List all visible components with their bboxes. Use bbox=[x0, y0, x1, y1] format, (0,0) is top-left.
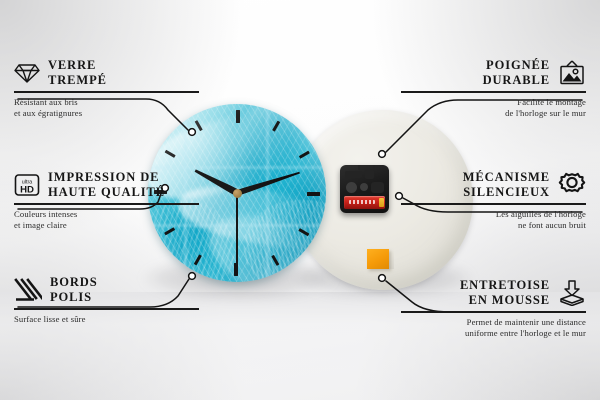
connector-dot-verre-trempe bbox=[189, 129, 196, 136]
feature-title: MÉCANISME SILENCIEUX bbox=[463, 170, 550, 199]
feature-divider bbox=[14, 91, 199, 93]
feature-header: ENTRETOISE EN MOUSSE bbox=[401, 278, 586, 307]
feature-mecanisme-silencieux[interactable]: MÉCANISME SILENCIEUX Les aiguilles de l'… bbox=[401, 170, 586, 231]
feature-bords-polis[interactable]: BORDS POLIS Surface lisse et sûre bbox=[14, 275, 199, 325]
feature-description: Résistant aux bris et aux égratignures bbox=[14, 97, 199, 119]
ultra-hd-icon: ultra HD bbox=[14, 173, 40, 197]
feature-divider bbox=[401, 203, 586, 205]
feature-description: Les aiguilles de l'horloge ne font aucun… bbox=[401, 209, 586, 231]
hanging-frame-icon bbox=[558, 60, 586, 86]
feature-header: POIGNÉE DURABLE bbox=[401, 58, 586, 87]
feature-impression-haute-qualite[interactable]: ultra HD IMPRESSION DE HAUTE QUALITÉ Cou… bbox=[14, 170, 199, 231]
feature-description: Facilite le montage de l'horloge sur le … bbox=[401, 97, 586, 119]
polished-edges-icon bbox=[14, 278, 42, 302]
svg-text:HD: HD bbox=[20, 184, 34, 195]
feature-title: ENTRETOISE EN MOUSSE bbox=[460, 278, 550, 307]
feature-divider bbox=[14, 203, 199, 205]
feature-description: Surface lisse et sûre bbox=[14, 314, 199, 325]
feature-header: ultra HD IMPRESSION DE HAUTE QUALITÉ bbox=[14, 170, 199, 199]
diamond-icon bbox=[14, 62, 40, 84]
infographic-canvas: VERRE TREMPÉ Résistant aux bris et aux é… bbox=[0, 0, 600, 400]
feature-description: Permet de maintenir une distance uniform… bbox=[401, 317, 586, 339]
feature-divider bbox=[401, 91, 586, 93]
feature-title: IMPRESSION DE HAUTE QUALITÉ bbox=[48, 170, 165, 199]
connector-dot-poignee-durable bbox=[379, 151, 386, 158]
feature-title: BORDS POLIS bbox=[50, 275, 98, 304]
feature-poignee-durable[interactable]: POIGNÉE DURABLE Facilite le montage de l… bbox=[401, 58, 586, 119]
feature-divider bbox=[401, 311, 586, 313]
foam-spacer-icon bbox=[558, 280, 586, 306]
feature-entretoise-en-mousse[interactable]: ENTRETOISE EN MOUSSE Permet de maintenir… bbox=[401, 278, 586, 339]
feature-divider bbox=[14, 308, 199, 310]
feature-header: BORDS POLIS bbox=[14, 275, 199, 304]
feature-verre-trempe[interactable]: VERRE TREMPÉ Résistant aux bris et aux é… bbox=[14, 58, 199, 119]
gear-icon bbox=[558, 171, 586, 199]
connector-dot-entretoise-en-mousse bbox=[379, 275, 386, 282]
feature-title: POIGNÉE DURABLE bbox=[483, 58, 550, 87]
feature-description: Couleurs intenses et image claire bbox=[14, 209, 199, 231]
feature-title: VERRE TREMPÉ bbox=[48, 58, 107, 87]
feature-header: VERRE TREMPÉ bbox=[14, 58, 199, 87]
feature-header: MÉCANISME SILENCIEUX bbox=[401, 170, 586, 199]
